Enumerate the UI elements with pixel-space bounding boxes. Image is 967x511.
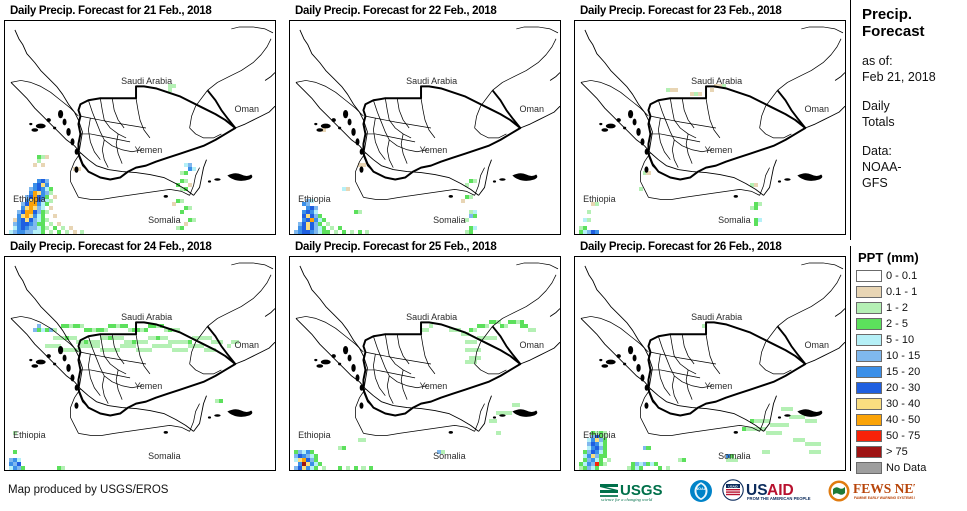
country-label: Ethiopia xyxy=(298,194,331,204)
svg-text:NOAA: NOAA xyxy=(696,487,707,491)
country-label: Yemen xyxy=(705,381,733,391)
as-of-date: Feb 21, 2018 xyxy=(862,69,966,85)
legend-title: PPT (mm) xyxy=(856,250,966,265)
country-label: Saudi Arabia xyxy=(121,312,172,322)
country-label: Oman xyxy=(235,104,260,114)
info-title-line2: Forecast xyxy=(862,23,966,40)
usaid-logo: USAID US AID FROM THE AMERICAN PEOPLE xyxy=(720,478,820,504)
country-label: Saudi Arabia xyxy=(406,312,457,322)
country-label: Ethiopia xyxy=(583,430,616,440)
country-label: Somalia xyxy=(718,215,751,225)
forecast-map[interactable]: Saudi ArabiaOmanYemenEthiopiaSomalia xyxy=(574,20,846,235)
legend-swatch xyxy=(856,318,882,330)
legend-label: 20 - 30 xyxy=(886,382,920,394)
legend-item: 0.1 - 1 xyxy=(856,284,966,300)
legend-rows: 0 - 0.10.1 - 11 - 22 - 55 - 1010 - 1515 … xyxy=(856,268,966,476)
legend-item: 5 - 10 xyxy=(856,332,966,348)
panel-title: Daily Precip. Forecast for 23 Feb., 2018 xyxy=(574,3,846,20)
legend-label: > 75 xyxy=(886,446,908,458)
legend-item: No Data xyxy=(856,460,966,476)
legend-item: 20 - 30 xyxy=(856,380,966,396)
legend-item: 40 - 50 xyxy=(856,412,966,428)
ppt-legend: PPT (mm) 0 - 0.10.1 - 11 - 22 - 55 - 101… xyxy=(856,250,966,476)
legend-divider-bottom xyxy=(850,246,851,471)
forecast-panel: Daily Precip. Forecast for 23 Feb., 2018 xyxy=(574,3,846,235)
forecast-panel: Daily Precip. Forecast for 26 Feb., 2018 xyxy=(574,239,846,471)
country-label: Ethiopia xyxy=(298,430,331,440)
legend-swatch xyxy=(856,414,882,426)
legend-item: 50 - 75 xyxy=(856,428,966,444)
legend-swatch xyxy=(856,334,882,346)
country-label: Oman xyxy=(805,104,830,114)
panel-title: Daily Precip. Forecast for 26 Feb., 2018 xyxy=(574,239,846,256)
legend-swatch xyxy=(856,366,882,378)
legend-item: 1 - 2 xyxy=(856,300,966,316)
legend-swatch xyxy=(856,398,882,410)
map-credit: Map produced by USGS/EROS xyxy=(8,484,168,496)
legend-label: 0 - 0.1 xyxy=(886,270,917,282)
legend-swatch xyxy=(856,382,882,394)
country-label: Saudi Arabia xyxy=(121,76,172,86)
legend-swatch xyxy=(856,302,882,314)
agency-logos: USGS science for a changing world NOAA U… xyxy=(598,478,915,504)
svg-text:USAID: USAID xyxy=(728,484,738,488)
country-label: Ethiopia xyxy=(583,194,616,204)
country-label: Somalia xyxy=(718,451,751,461)
legend-label: 30 - 40 xyxy=(886,398,920,410)
country-label: Saudi Arabia xyxy=(691,76,742,86)
panel-title: Daily Precip. Forecast for 22 Feb., 2018 xyxy=(289,3,561,20)
legend-label: 5 - 10 xyxy=(886,334,914,346)
legend-item: 10 - 15 xyxy=(856,348,966,364)
country-label: Somalia xyxy=(148,451,181,461)
country-label: Yemen xyxy=(705,145,733,155)
panel-title: Daily Precip. Forecast for 21 Feb., 2018 xyxy=(4,3,276,20)
svg-text:FEWS NET: FEWS NET xyxy=(853,481,915,496)
forecast-map[interactable]: Saudi ArabiaOmanYemenEthiopiaSomalia xyxy=(574,256,846,471)
forecast-panel: Daily Precip. Forecast for 24 Feb., 2018 xyxy=(4,239,276,471)
legend-swatch xyxy=(856,446,882,458)
country-label: Yemen xyxy=(420,381,448,391)
legend-item: 15 - 20 xyxy=(856,364,966,380)
country-label: Ethiopia xyxy=(13,194,46,204)
country-label: Yemen xyxy=(420,145,448,155)
totals-line1: Daily xyxy=(862,98,966,114)
as-of-label: as of: xyxy=(862,53,966,69)
country-label: Saudi Arabia xyxy=(406,76,457,86)
country-label: Oman xyxy=(520,340,545,350)
country-label: Yemen xyxy=(135,381,163,391)
panel-title: Daily Precip. Forecast for 24 Feb., 2018 xyxy=(4,239,276,256)
forecast-map[interactable]: Saudi ArabiaOmanYemenEthiopiaSomalia xyxy=(289,256,561,471)
precip-cell xyxy=(591,234,595,235)
legend-swatch xyxy=(856,270,882,282)
country-label: Somalia xyxy=(433,215,466,225)
country-label: Oman xyxy=(520,104,545,114)
data-label: Data: xyxy=(862,143,966,159)
forecast-panel: Daily Precip. Forecast for 21 Feb., 2018 xyxy=(4,3,276,235)
info-panel: Precip. Forecast as of: Feb 21, 2018 Dai… xyxy=(862,6,966,191)
info-totals: Daily Totals xyxy=(862,98,966,130)
forecast-panel: Daily Precip. Forecast for 25 Feb., 2018 xyxy=(289,239,561,471)
legend-swatch xyxy=(856,462,882,474)
legend-label: 50 - 75 xyxy=(886,430,920,442)
data-line1: NOAA- xyxy=(862,159,966,175)
legend-label: 15 - 20 xyxy=(886,366,920,378)
forecast-panel: Daily Precip. Forecast for 22 Feb., 2018 xyxy=(289,3,561,235)
info-title-line1: Precip. xyxy=(862,6,966,23)
fewsnet-logo: FEWS NET FAMINE EARLY WARNING SYSTEMS NE… xyxy=(827,478,915,504)
country-label: Yemen xyxy=(135,145,163,155)
legend-swatch xyxy=(856,286,882,298)
legend-item: 30 - 40 xyxy=(856,396,966,412)
forecast-map[interactable]: Saudi ArabiaOmanYemenEthiopiaSomalia xyxy=(289,20,561,235)
precip-cell xyxy=(595,234,599,235)
legend-label: 40 - 50 xyxy=(886,414,920,426)
country-label: Somalia xyxy=(433,451,466,461)
legend-divider-top xyxy=(850,0,851,240)
legend-item: 0 - 0.1 xyxy=(856,268,966,284)
panel-title: Daily Precip. Forecast for 25 Feb., 2018 xyxy=(289,239,561,256)
legend-swatch xyxy=(856,350,882,362)
usgs-logo: USGS science for a changing world xyxy=(598,478,682,504)
country-label: Somalia xyxy=(148,215,181,225)
country-label: Saudi Arabia xyxy=(691,312,742,322)
totals-line2: Totals xyxy=(862,114,966,130)
svg-text:FAMINE EARLY WARNING SYSTEMS N: FAMINE EARLY WARNING SYSTEMS NETWORK xyxy=(854,496,915,500)
info-data-source: Data: NOAA- GFS xyxy=(862,143,966,191)
legend-label: 1 - 2 xyxy=(886,302,908,314)
info-title: Precip. Forecast xyxy=(862,6,966,40)
legend-label: No Data xyxy=(886,462,926,474)
forecast-map[interactable]: Saudi ArabiaOmanYemenEthiopiaSomalia xyxy=(4,20,276,235)
country-label: Ethiopia xyxy=(13,430,46,440)
legend-swatch xyxy=(856,430,882,442)
svg-text:FROM THE AMERICAN PEOPLE: FROM THE AMERICAN PEOPLE xyxy=(747,496,811,501)
forecast-map[interactable]: Saudi ArabiaOmanYemenEthiopiaSomalia xyxy=(4,256,276,471)
svg-text:science for a changing world: science for a changing world xyxy=(601,497,653,502)
country-label: Oman xyxy=(805,340,830,350)
data-line2: GFS xyxy=(862,175,966,191)
legend-item: 2 - 5 xyxy=(856,316,966,332)
country-label: Oman xyxy=(235,340,260,350)
info-as-of: as of: Feb 21, 2018 xyxy=(862,53,966,85)
legend-label: 10 - 15 xyxy=(886,350,920,362)
legend-label: 2 - 5 xyxy=(886,318,908,330)
legend-label: 0.1 - 1 xyxy=(886,286,917,298)
legend-item: > 75 xyxy=(856,444,966,460)
precip-cell xyxy=(587,234,591,235)
noaa-logo: NOAA xyxy=(689,478,713,504)
